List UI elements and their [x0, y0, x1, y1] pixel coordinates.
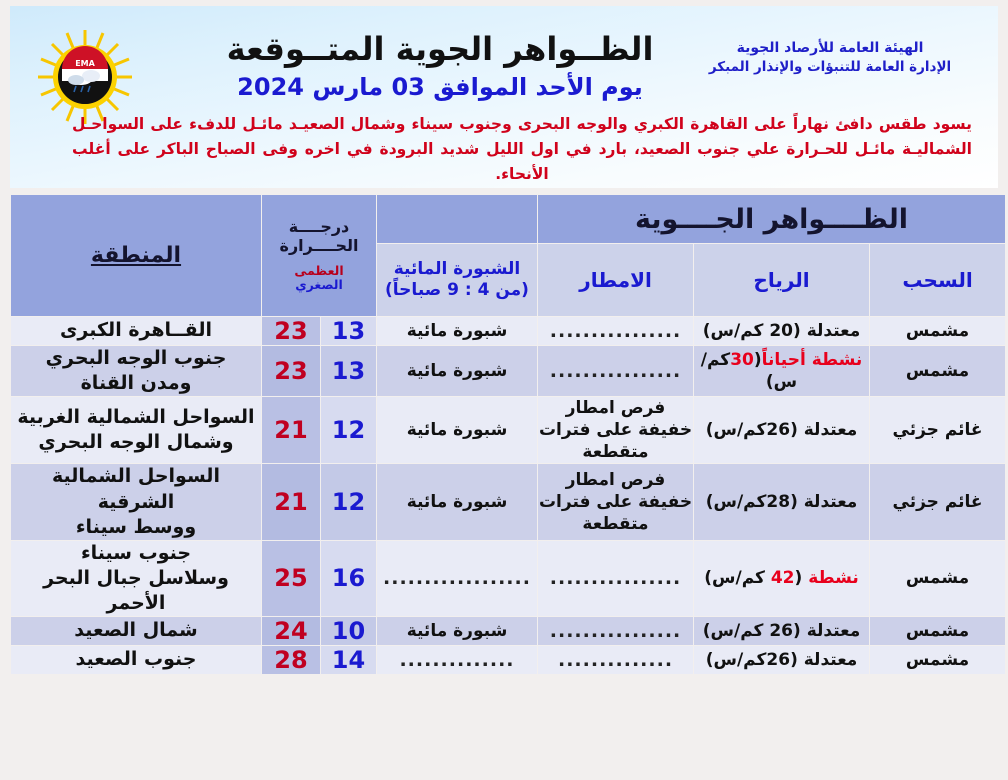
cell-wind: معتدلة (20 كم/س) [694, 317, 869, 345]
cell-mist: شبورة مائية [377, 397, 537, 463]
cell-clouds: غائم جزئي [870, 397, 1005, 463]
cell-rain: ................ [538, 617, 693, 645]
wind-value-text: معتدلة (26كم/س) [706, 650, 858, 670]
table-row: غائم جزئيمعتدلة (28كم/س)فرص امطار خفيفة … [11, 464, 1005, 539]
cell-temp-min: 12 [321, 397, 376, 463]
cell-temp-max: 28 [262, 646, 320, 674]
wind-value-text: معتدلة (28كم/س) [706, 492, 858, 512]
cell-rain: ................ [538, 541, 693, 616]
cell-mist: شبورة مائية [377, 617, 537, 645]
cell-clouds: مشمس [870, 541, 1005, 616]
cell-wind: معتدلة (26 كم/س) [694, 617, 869, 645]
column-header-rain: الامطار [538, 244, 693, 316]
cell-rain: ................ [538, 346, 693, 396]
temperature-min-label: الصغري [262, 278, 376, 293]
organization-name: الهيئة العامة للأرصاد الجوية الإدارة الع… [680, 38, 980, 78]
temperature-header: درجــــة الحــــرارة العظمى الصغري [262, 195, 376, 316]
wind-value-highlight: نشطة أحياناً [762, 350, 863, 370]
column-header-mist-line1: الشبورة المائية [394, 259, 520, 279]
cell-temp-min: 16 [321, 541, 376, 616]
forecast-date: يوم الأحد الموافق 03 مارس 2024 [160, 74, 720, 102]
cell-wind: معتدلة (26كم/س) [694, 397, 869, 463]
cell-clouds: مشمس [870, 646, 1005, 674]
cell-temp-min: 12 [321, 464, 376, 539]
cell-rain: فرص امطار خفيفة على فترات متقطعة [538, 464, 693, 539]
cell-rain: ................ [538, 317, 693, 345]
cell-region: السواحل الشمالية الشرقيةووسط سيناء [11, 464, 261, 539]
region-name-line: وسلاسل جبال البحر الأحمر [43, 567, 229, 614]
region-name-line: جنوب الوجه البحري [46, 347, 227, 369]
wind-value-text: ( [795, 568, 809, 588]
region-name-line: السواحل الشمالية الغربية [17, 406, 254, 428]
table-row: مشمسمعتدلة (26كم/س).....................… [11, 646, 1005, 674]
column-header-mist: الشبورة المائية (من 4 : 9 صباحاً) [377, 244, 537, 316]
cell-temp-min: 14 [321, 646, 376, 674]
cell-wind: نشطة (42 كم/س) [694, 541, 869, 616]
cell-mist: شبورة مائية [377, 317, 537, 345]
wind-value-text: معتدلة (26 كم/س) [703, 621, 861, 641]
region-name-line: وشمال الوجه البحري [38, 431, 233, 453]
column-header-mist-line2: (من 4 : 9 صباحاً) [385, 280, 529, 300]
page-title: الظــواهر الجوية المتــوقعة [160, 32, 720, 68]
table-row: مشمسنشطة (42 كم/س)......................… [11, 541, 1005, 616]
cell-region: جنوب الصعيد [11, 646, 261, 674]
cell-temp-max: 23 [262, 346, 320, 396]
cell-wind: نشطة أحياناً(30كم/س) [694, 346, 869, 396]
cell-region: شمال الصعيد [11, 617, 261, 645]
cell-clouds: غائم جزئي [870, 464, 1005, 539]
org-line-1: الهيئة العامة للأرصاد الجوية [680, 38, 980, 58]
region-name-line: ومدن القناة [81, 372, 192, 394]
cell-wind: معتدلة (26كم/س) [694, 646, 869, 674]
region-name-line: السواحل الشمالية الشرقية [52, 465, 220, 512]
column-header-wind: الرياح [694, 244, 869, 316]
wind-value-text: معتدلة (26كم/س) [706, 420, 858, 440]
temperature-max-label: العظمى [262, 264, 376, 279]
region-name-line: ووسط سيناء [76, 516, 196, 538]
cell-temp-min: 13 [321, 317, 376, 345]
cell-temp-max: 21 [262, 397, 320, 463]
cell-region: السواحل الشمالية الغربيةوشمال الوجه البح… [11, 397, 261, 463]
wind-value-text: ( [754, 350, 762, 370]
cell-region: جنوب سيناءوسلاسل جبال البحر الأحمر [11, 541, 261, 616]
org-line-2: الإدارة العامة للتنبؤات والإنذار المبكر [680, 58, 980, 78]
weather-forecast-page: EMA الهيئة العامة للأرصاد الجوية الإدارة… [0, 0, 1008, 780]
temperature-header-title: درجــــة الحــــرارة [262, 218, 376, 256]
table-row: مشمسنشطة أحياناً(30كم/س)................… [11, 346, 1005, 396]
cell-temp-min: 13 [321, 346, 376, 396]
cell-region: جنوب الوجه البحريومدن القناة [11, 346, 261, 396]
table-row: مشمسمعتدلة (20 كم/س)................شبور… [11, 317, 1005, 345]
cell-rain: فرص امطار خفيفة على فترات متقطعة [538, 397, 693, 463]
region-name-line: القــاهرة الكبرى [60, 319, 212, 341]
svg-text:EMA: EMA [75, 59, 95, 68]
cell-temp-max: 25 [262, 541, 320, 616]
table-row: غائم جزئيمعتدلة (26كم/س)فرص امطار خفيفة … [11, 397, 1005, 463]
cell-mist: شبورة مائية [377, 464, 537, 539]
table-header-top-row: الظــــواهر الجــــوية درجــــة الحــــر… [11, 195, 1005, 243]
cell-clouds: مشمس [870, 317, 1005, 345]
cell-temp-max: 24 [262, 617, 320, 645]
table-body: مشمسمعتدلة (20 كم/س)................شبور… [11, 317, 1005, 674]
region-name-line: جنوب الصعيد [76, 648, 197, 670]
table-row: مشمسمعتدلة (26 كم/س)................شبور… [11, 617, 1005, 645]
wind-value-text: كم/س) [704, 568, 771, 588]
cell-clouds: مشمس [870, 617, 1005, 645]
cell-region: القــاهرة الكبرى [11, 317, 261, 345]
wind-value-text: معتدلة (20 كم/س) [703, 321, 861, 341]
forecast-summary: يسود طقس دافئ نهاراً على القاهرة الكبري … [72, 112, 972, 187]
wind-value-highlight: 30 [730, 350, 754, 370]
phenomena-group-header-spacer [377, 195, 537, 243]
region-name-line: شمال الصعيد [74, 619, 197, 641]
weather-table: الظــــواهر الجــــوية درجــــة الحــــر… [10, 194, 1006, 675]
cell-temp-min: 10 [321, 617, 376, 645]
wind-value-highlight: نشطة [808, 568, 859, 588]
phenomena-group-header: الظــــواهر الجــــوية [538, 195, 1005, 243]
region-header: المنطقة [11, 195, 261, 316]
cell-mist: .................. [377, 541, 537, 616]
header-banner: EMA الهيئة العامة للأرصاد الجوية الإدارة… [10, 6, 998, 188]
cell-temp-max: 23 [262, 317, 320, 345]
cell-rain: .............. [538, 646, 693, 674]
wind-value-highlight: 42 [771, 568, 795, 588]
column-header-clouds: السحب [870, 244, 1005, 316]
cell-mist: .............. [377, 646, 537, 674]
cell-clouds: مشمس [870, 346, 1005, 396]
cell-temp-max: 21 [262, 464, 320, 539]
cell-mist: شبورة مائية [377, 346, 537, 396]
region-name-line: جنوب سيناء [81, 542, 191, 564]
cell-wind: معتدلة (28كم/س) [694, 464, 869, 539]
